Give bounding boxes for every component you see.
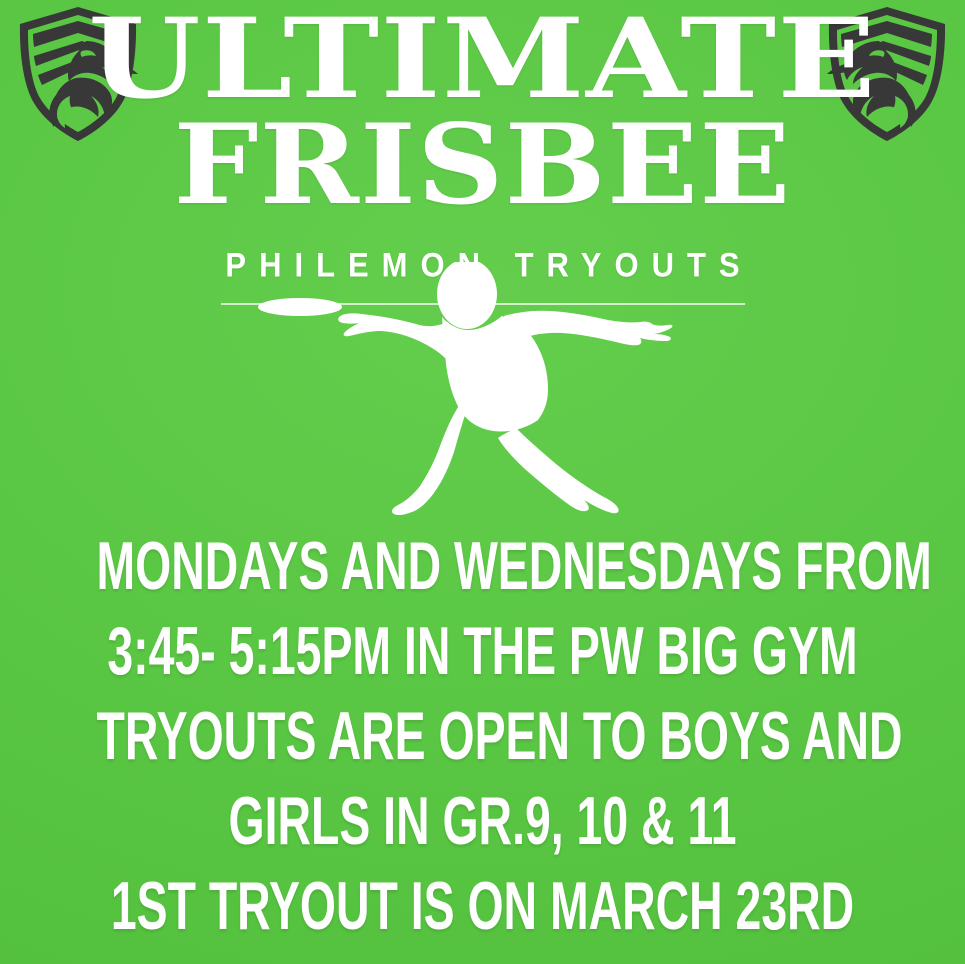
ultimate-frisbee-tryout-poster: ULTIMATE FRISBEE PHILEMON TRYOUTS (0, 0, 965, 964)
page-title-line-1: ULTIMATE (70, 8, 895, 109)
page-title-line-2: FRISBEE (100, 114, 865, 215)
event-details-block: MONDAYS AND WEDNESDAYS FROM 3:45- 5:15PM… (0, 524, 965, 949)
poster-headline-block: ULTIMATE FRISBEE PHILEMON TRYOUTS (150, 0, 815, 305)
frisbee-thrower-silhouette (252, 262, 704, 524)
detail-line-eligibility: TRYOUTS ARE OPEN TO BOYS AND (97, 687, 869, 786)
detail-line-first-tryout-date: 1ST TRYOUT IS ON MARCH 23RD (97, 857, 869, 956)
detail-line-schedule-time-location: 3:45- 5:15PM IN THE PW BIG GYM (97, 602, 869, 701)
detail-line-schedule-days: MONDAYS AND WEDNESDAYS FROM (97, 517, 869, 616)
flying-disc-icon (258, 298, 342, 316)
detail-line-grades: GIRLS IN GR.9, 10 & 11 (97, 772, 869, 871)
